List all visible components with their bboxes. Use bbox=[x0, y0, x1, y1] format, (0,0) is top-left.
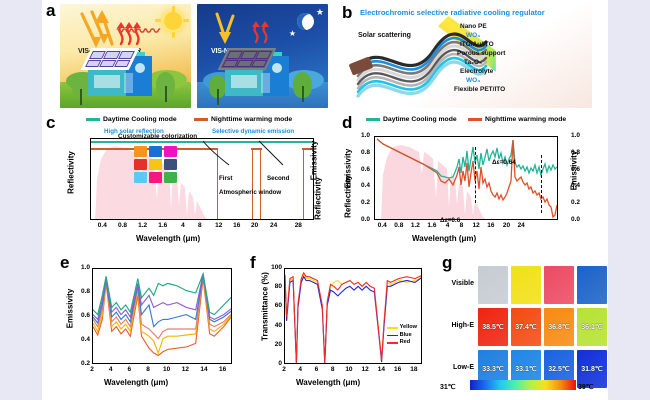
xtick-8: 8 bbox=[191, 222, 209, 229]
mir-fir-arrows-night-icon bbox=[251, 20, 281, 44]
xtick-24: 24 bbox=[265, 222, 283, 229]
panel-d-axes bbox=[374, 136, 558, 220]
temperature-value: 36.1℃ bbox=[577, 323, 607, 331]
legend-item-red: Red bbox=[387, 339, 417, 347]
panel-f-axes: YellowBlueRed bbox=[284, 268, 422, 364]
panel-a-letter: a bbox=[46, 2, 55, 19]
thermal-cell-visible-3 bbox=[577, 266, 607, 304]
swatch-3 bbox=[134, 159, 147, 170]
thermal-cell-visible-2 bbox=[544, 266, 574, 304]
second-window-box bbox=[260, 148, 304, 219]
xtick-18: 18 bbox=[405, 366, 423, 373]
scale-min-label: 31℃ bbox=[440, 383, 456, 391]
ytick-0.8: 0.8 bbox=[70, 288, 90, 295]
panel-e-lines bbox=[93, 269, 232, 364]
ytick-100: 100 bbox=[262, 264, 282, 271]
house-night bbox=[219, 44, 297, 96]
layer-label-ta2o5: Ta₂O₅ bbox=[464, 59, 482, 66]
panel-d-lines bbox=[375, 137, 558, 220]
xtick-4: 4 bbox=[174, 222, 192, 229]
legend-label: Blue bbox=[400, 332, 412, 340]
ytick-0.4: 0.4 bbox=[70, 336, 90, 343]
legend-label: Daytime Cooling mode bbox=[383, 116, 457, 123]
door bbox=[124, 73, 133, 93]
selective-emission-label: Selective dynamic emission bbox=[212, 128, 294, 135]
temperature-value: 31.8℃ bbox=[577, 365, 607, 373]
temperature-value: 33.1℃ bbox=[511, 365, 541, 373]
first-window-label: First bbox=[219, 175, 232, 182]
delta2-dashed-line bbox=[541, 155, 542, 213]
legend-item-yellow: Yellow bbox=[387, 324, 417, 332]
thermal-cell-visible-0 bbox=[478, 266, 508, 304]
xtick-1.2: 1.2 bbox=[134, 222, 152, 229]
ytick-0.8: 0.8 bbox=[350, 149, 370, 156]
panel-c-chart: c Daytime Cooling mode Nighttime warming… bbox=[60, 116, 330, 246]
ytick-1.0: 1.0 bbox=[70, 264, 90, 271]
delta1-dashed-line bbox=[475, 147, 476, 203]
xtick-6: 6 bbox=[120, 366, 138, 373]
house-day bbox=[82, 44, 160, 96]
ytick-1.0: 1.0 bbox=[350, 132, 370, 139]
panel-f-letter: f bbox=[250, 254, 256, 271]
layer-label-pet-ito: Flexible PET/ITO bbox=[454, 86, 505, 93]
xtick-10: 10 bbox=[158, 366, 176, 373]
temperature-value: 37.4℃ bbox=[511, 323, 541, 331]
ytick-0.6: 0.6 bbox=[560, 166, 580, 173]
layer-label-porous: Porous support bbox=[457, 50, 505, 57]
swatch-5 bbox=[164, 159, 177, 170]
ytick-60: 60 bbox=[262, 302, 282, 309]
panel-d-xlabel: Wavelength (μm) bbox=[412, 234, 476, 243]
layer-label-electrolyte: Electrolyte bbox=[460, 68, 493, 75]
panel-b-letter: b bbox=[342, 4, 352, 21]
ytick-0.2: 0.2 bbox=[560, 199, 580, 206]
xtick-1.6: 1.6 bbox=[154, 222, 172, 229]
legend-item-daytime-d: Daytime Cooling mode bbox=[366, 116, 457, 123]
xtick-28: 28 bbox=[289, 222, 307, 229]
xtick-12: 12 bbox=[176, 366, 194, 373]
ytick-0.0: 0.0 bbox=[350, 216, 370, 223]
layer-label-wo3-top: WO₃ bbox=[466, 32, 480, 39]
panel-f-xlabel: Wavelength (μm) bbox=[296, 378, 360, 387]
color-swatch-grid bbox=[134, 146, 177, 183]
ytick-1.0: 1.0 bbox=[560, 132, 580, 139]
panel-g-thermal-images: g VisibleHigh-E38.5℃37.4℃36.8℃36.1℃Low-E… bbox=[440, 254, 608, 396]
legend-item-nighttime-d: Nighttime warming mode bbox=[468, 116, 566, 123]
panel-f-lines bbox=[285, 269, 422, 364]
panel-c-xlabel: Wavelength (μm) bbox=[136, 234, 200, 243]
ytick-40: 40 bbox=[262, 322, 282, 329]
xtick-0.4: 0.4 bbox=[93, 222, 111, 229]
xtick-4: 4 bbox=[102, 366, 120, 373]
legend-swatch-icon bbox=[468, 118, 482, 121]
swatch-0 bbox=[134, 146, 147, 157]
atmospheric-window-label: Atmospheric window bbox=[219, 189, 281, 196]
panel-d-chart: d Daytime Cooling mode Nighttime warming… bbox=[342, 116, 592, 246]
legend-label: Nighttime warming mode bbox=[485, 116, 566, 123]
swatch-2 bbox=[164, 146, 177, 157]
swatch-6 bbox=[134, 172, 147, 183]
day-scene: 〰〰〰 VIS-NIR MIR-FIR bbox=[60, 4, 191, 108]
panel-e-xlabel: Wavelength (μm) bbox=[104, 378, 168, 387]
ytick-0.2: 0.2 bbox=[350, 199, 370, 206]
window bbox=[94, 75, 120, 88]
xtick-0.8: 0.8 bbox=[113, 222, 131, 229]
swatch-7 bbox=[149, 172, 162, 183]
temperature-colorbar bbox=[470, 380, 576, 390]
panel-e-axes bbox=[92, 268, 232, 364]
row-label-high-e: High-E bbox=[440, 322, 474, 329]
xtick-16: 16 bbox=[214, 366, 232, 373]
second-window-label: Second bbox=[267, 175, 289, 182]
legend-label: Daytime Cooling mode bbox=[103, 116, 177, 123]
legend-swatch-icon bbox=[86, 118, 100, 121]
legend-item-blue: Blue bbox=[387, 332, 417, 340]
layer-label-ito-au-ito: ITO/Au/ITO bbox=[460, 41, 494, 48]
temperature-value: 36.8℃ bbox=[544, 323, 574, 331]
legend-label: Nighttime warming mode bbox=[211, 116, 292, 123]
panel-b-title: Electrochromic selective radiative cooli… bbox=[360, 8, 545, 17]
door bbox=[261, 73, 270, 93]
night-scene: ★ ★ VIS-NIR MIR-FIR bbox=[197, 4, 328, 108]
legend-item-daytime-c: Daytime Cooling mode bbox=[86, 116, 177, 123]
daytime-cooling-line-c bbox=[91, 141, 313, 143]
ytick-0.6: 0.6 bbox=[350, 166, 370, 173]
xtick-12: 12 bbox=[210, 222, 228, 229]
thermal-cell-visible-1 bbox=[511, 266, 541, 304]
panel-f-chart: f YellowBlueRed Transmittance (%) Wavele… bbox=[250, 254, 436, 396]
panel-c-axes: First Atmospheric window Second bbox=[90, 138, 314, 220]
panel-c-ylabel: Reflectivity bbox=[67, 143, 76, 203]
thermal-cell-high-e-0: 38.5℃ bbox=[478, 308, 508, 346]
ytick-0.8: 0.8 bbox=[560, 149, 580, 156]
row-label-visible: Visible bbox=[440, 280, 474, 287]
first-window-box bbox=[217, 148, 253, 219]
legend-swatch-icon bbox=[387, 327, 398, 329]
thermal-cell-high-e-1: 37.4℃ bbox=[511, 308, 541, 346]
legend-item-nighttime-c: Nighttime warming mode bbox=[194, 116, 292, 123]
customizable-colorization-label: Customizable colorization bbox=[118, 133, 197, 140]
xtick-1.2: 1.2 bbox=[406, 222, 424, 229]
legend-swatch-icon bbox=[387, 335, 398, 337]
xtick-16: 16 bbox=[228, 222, 246, 229]
xtick-0.8: 0.8 bbox=[390, 222, 408, 229]
temperature-value: 33.3℃ bbox=[478, 365, 508, 373]
thermal-cell-high-e-2: 36.8℃ bbox=[544, 308, 574, 346]
swatch-4 bbox=[149, 159, 162, 170]
mir-fir-arrows-day-icon bbox=[116, 20, 152, 46]
ytick-80: 80 bbox=[262, 283, 282, 290]
legend-swatch-icon bbox=[366, 118, 380, 121]
xtick-24: 24 bbox=[512, 222, 530, 229]
panel-c-letter: c bbox=[46, 114, 55, 131]
ytick-0.0: 0.0 bbox=[560, 216, 580, 223]
panel-d-letter: d bbox=[342, 114, 352, 131]
figure-canvas: a 〰〰〰 bbox=[42, 0, 608, 400]
scale-max-label: 39℃ bbox=[578, 383, 594, 391]
layer-label-wo3-bottom: WO₃ bbox=[466, 77, 480, 84]
temperature-value: 32.5℃ bbox=[544, 365, 574, 373]
legend-label: Yellow bbox=[400, 324, 417, 332]
ytick-0.4: 0.4 bbox=[350, 182, 370, 189]
xtick-8: 8 bbox=[139, 366, 157, 373]
panel-e-chart: e 0 V1 V2 V3 V4 V4.5 V Emissivity Wavele… bbox=[60, 254, 246, 396]
delta-epsilon-2-label: Δε=0.64 bbox=[492, 159, 516, 166]
panel-a-schematic: a 〰〰〰 bbox=[60, 4, 330, 108]
ytick-0.6: 0.6 bbox=[70, 312, 90, 319]
legend-label: Red bbox=[400, 339, 411, 347]
temperature-value: 38.5℃ bbox=[478, 323, 508, 331]
ytick-0.4: 0.4 bbox=[560, 182, 580, 189]
xtick-2: 2 bbox=[83, 366, 101, 373]
xtick-20: 20 bbox=[246, 222, 264, 229]
swatch-8 bbox=[164, 172, 177, 183]
window bbox=[231, 75, 257, 88]
swatch-1 bbox=[149, 146, 162, 157]
layer-label-nano-pe: Nano PE bbox=[460, 23, 487, 30]
panel-b-device-structure: b Electrochromic selective radiative coo… bbox=[342, 4, 592, 108]
xtick-0.4: 0.4 bbox=[373, 222, 391, 229]
legend-swatch-icon bbox=[194, 118, 208, 121]
xtick-14: 14 bbox=[195, 366, 213, 373]
panel-e-letter: e bbox=[60, 254, 69, 271]
panel-f-legend: YellowBlueRed bbox=[387, 324, 417, 347]
panel-c-ylabel-right2: Reflectivity bbox=[314, 174, 323, 224]
panel-g-letter: g bbox=[442, 254, 452, 271]
legend-swatch-icon bbox=[387, 342, 398, 344]
thermal-cell-high-e-3: 36.1℃ bbox=[577, 308, 607, 346]
row-label-low-e: Low-E bbox=[440, 364, 474, 371]
ytick-20: 20 bbox=[262, 341, 282, 348]
